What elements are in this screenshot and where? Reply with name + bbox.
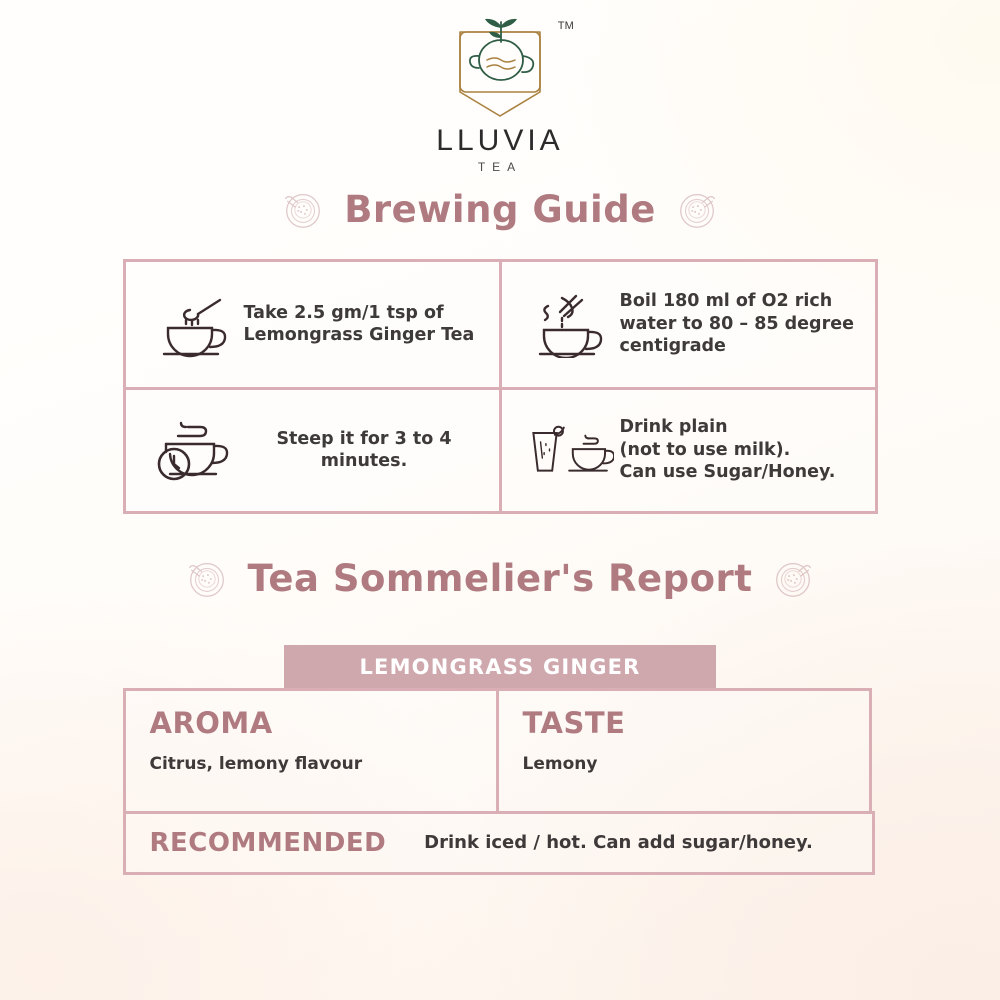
brewing-step-cell: Boil 180 ml of O2 rich water to 80 – 85 … xyxy=(499,259,878,390)
sommelier-report-title: Tea Sommelier's Report xyxy=(0,555,1000,601)
teacup-top-view-icon xyxy=(770,555,816,601)
teacup-top-view-icon xyxy=(280,186,326,232)
glass-and-cup-icon xyxy=(528,417,614,483)
brewing-guide-page: TM LLUVIA TEA Brewing Guide xyxy=(0,0,1000,1000)
cup-with-pouring-water-icon xyxy=(528,290,614,358)
brewing-step-text: Take 2.5 gm/1 tsp of Lemongrass Ginger T… xyxy=(244,302,475,347)
tea-name-label: LEMONGRASS GINGER xyxy=(359,655,640,679)
recommended-cell: RECOMMENDED Drink iced / hot. Can add su… xyxy=(123,811,875,875)
cup-with-clock-icon xyxy=(152,416,238,484)
taste-value: Lemony xyxy=(523,754,845,774)
recommended-label: RECOMMENDED xyxy=(150,830,387,856)
section-title-text: Tea Sommelier's Report xyxy=(248,557,753,600)
table-row: AROMA Citrus, lemony flavour TASTE Lemon… xyxy=(124,689,876,812)
sommelier-report-table: AROMA Citrus, lemony flavour TASTE Lemon… xyxy=(124,689,876,873)
brewing-step-text: Boil 180 ml of O2 rich water to 80 – 85 … xyxy=(620,290,854,357)
taste-cell: TASTE Lemony xyxy=(496,688,872,814)
aroma-value: Citrus, lemony flavour xyxy=(150,754,472,774)
brand-name: LLUVIA xyxy=(436,124,563,158)
teacup-top-view-icon xyxy=(184,555,230,601)
brewing-step-cell: Steep it for 3 to 4 minutes. xyxy=(123,387,502,514)
recommended-value: Drink iced / hot. Can add sugar/honey. xyxy=(424,832,813,853)
taste-label: TASTE xyxy=(523,709,845,738)
brand-logo: TM LLUVIA TEA xyxy=(0,16,1000,174)
tea-name-band: LEMONGRASS GINGER xyxy=(284,645,716,689)
teapot-leaf-logo-icon: TM xyxy=(434,16,566,120)
brand-subtitle: TEA xyxy=(478,160,522,174)
brewing-step-cell: Take 2.5 gm/1 tsp of Lemongrass Ginger T… xyxy=(123,259,502,390)
brewing-step-text: Steep it for 3 to 4 minutes. xyxy=(244,428,485,473)
brewing-steps-grid: Take 2.5 gm/1 tsp of Lemongrass Ginger T… xyxy=(124,260,876,512)
brewing-step-text: Drink plain (not to use milk). Can use S… xyxy=(620,416,836,483)
cup-with-spoon-icon xyxy=(152,290,238,358)
brewing-step-cell: Drink plain (not to use milk). Can use S… xyxy=(499,387,878,514)
brewing-guide-title: Brewing Guide xyxy=(0,186,1000,232)
teacup-top-view-icon xyxy=(674,186,720,232)
trademark-symbol: TM xyxy=(558,20,574,32)
aroma-label: AROMA xyxy=(150,709,472,738)
aroma-cell: AROMA Citrus, lemony flavour xyxy=(123,688,499,814)
table-row: RECOMMENDED Drink iced / hot. Can add su… xyxy=(124,812,876,873)
section-title-text: Brewing Guide xyxy=(344,188,656,231)
